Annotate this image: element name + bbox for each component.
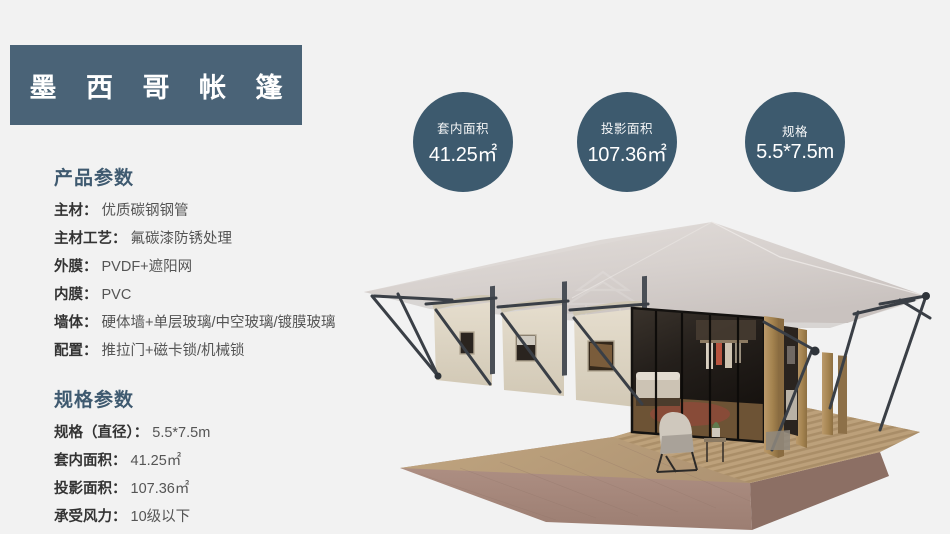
spec-panel: 产品参数 主材： 优质碳钢钢管 主材工艺： 氟碳漆防锈处理 外膜： PVDF+遮… xyxy=(54,163,384,533)
section-specification-parameters: 规格参数 规格（直径）： 5.5*7.5m 套内面积： 41.25㎡ 投影面积：… xyxy=(54,385,384,533)
spec-value: 5.5*7.5m xyxy=(152,425,210,441)
spec-row: 承受风力： 10级以下 xyxy=(54,505,384,533)
right-interior-inset xyxy=(784,326,798,436)
badge-label: 投影面积 xyxy=(601,118,653,137)
section-heading: 产品参数 xyxy=(54,163,384,190)
spec-value: PVC xyxy=(102,287,132,303)
badge-value: 5.5*7.5m xyxy=(756,141,834,164)
badge-projected-area: 投影面积 107.36㎡ xyxy=(577,92,677,192)
spec-value: 107.36㎡ xyxy=(131,477,190,498)
section-heading: 规格参数 xyxy=(54,385,384,412)
spec-row: 投影面积： 107.36㎡ xyxy=(54,477,384,505)
spec-label: 墙体： xyxy=(54,311,98,332)
spec-row: 配置： 推拉门+磁卡锁/机械锁 xyxy=(54,339,384,367)
section-product-parameters: 产品参数 主材： 优质碳钢钢管 主材工艺： 氟碳漆防锈处理 外膜： PVDF+遮… xyxy=(54,163,384,367)
badge-value: 107.36㎡ xyxy=(587,138,666,167)
spec-label: 规格（直径）： xyxy=(54,421,148,442)
badge-label: 套内面积 xyxy=(437,118,489,137)
spec-label: 投影面积： xyxy=(54,477,127,498)
title-banner: 墨 西 哥 帐 篷 xyxy=(10,45,302,125)
spec-label: 配置： xyxy=(54,339,98,360)
spec-row: 主材： 优质碳钢钢管 xyxy=(54,199,384,227)
spec-value: 氟碳漆防锈处理 xyxy=(131,227,233,248)
spec-value: PVDF+遮阳网 xyxy=(102,255,193,276)
spec-label: 内膜： xyxy=(54,283,98,304)
glass-facade xyxy=(632,308,764,442)
spec-value: 41.25㎡ xyxy=(131,449,182,470)
spec-label: 外膜： xyxy=(54,255,98,276)
spec-label: 主材： xyxy=(54,199,98,220)
badge-label: 规格 xyxy=(782,121,808,140)
badge-value: 41.25㎡ xyxy=(429,138,497,167)
badge-dimensions: 规格 5.5*7.5m xyxy=(745,92,845,192)
spec-value: 10级以下 xyxy=(131,505,191,526)
page-title: 墨 西 哥 帐 篷 xyxy=(18,66,293,105)
spec-label: 承受风力： xyxy=(54,505,127,526)
spec-row: 墙体： 硬体墙+单层玻璃/中空玻璃/镀膜玻璃 xyxy=(54,311,384,339)
product-spec-page: 墨 西 哥 帐 篷 产品参数 主材： 优质碳钢钢管 主材工艺： 氟碳漆防锈处理 … xyxy=(0,0,950,534)
spec-value: 推拉门+磁卡锁/机械锁 xyxy=(102,339,245,360)
spec-label: 主材工艺： xyxy=(54,227,127,248)
tent-illustration xyxy=(360,200,950,534)
spec-row: 内膜： PVC xyxy=(54,283,384,311)
spec-value: 优质碳钢钢管 xyxy=(102,199,189,220)
spec-row: 规格（直径）： 5.5*7.5m xyxy=(54,421,384,449)
spec-row: 主材工艺： 氟碳漆防锈处理 xyxy=(54,227,384,255)
spec-row: 套内面积： 41.25㎡ xyxy=(54,449,384,477)
spec-value: 硬体墙+单层玻璃/中空玻璃/镀膜玻璃 xyxy=(102,311,336,332)
badge-interior-area: 套内面积 41.25㎡ xyxy=(413,92,513,192)
spec-label: 套内面积： xyxy=(54,449,127,470)
spec-row: 外膜： PVDF+遮阳网 xyxy=(54,255,384,283)
